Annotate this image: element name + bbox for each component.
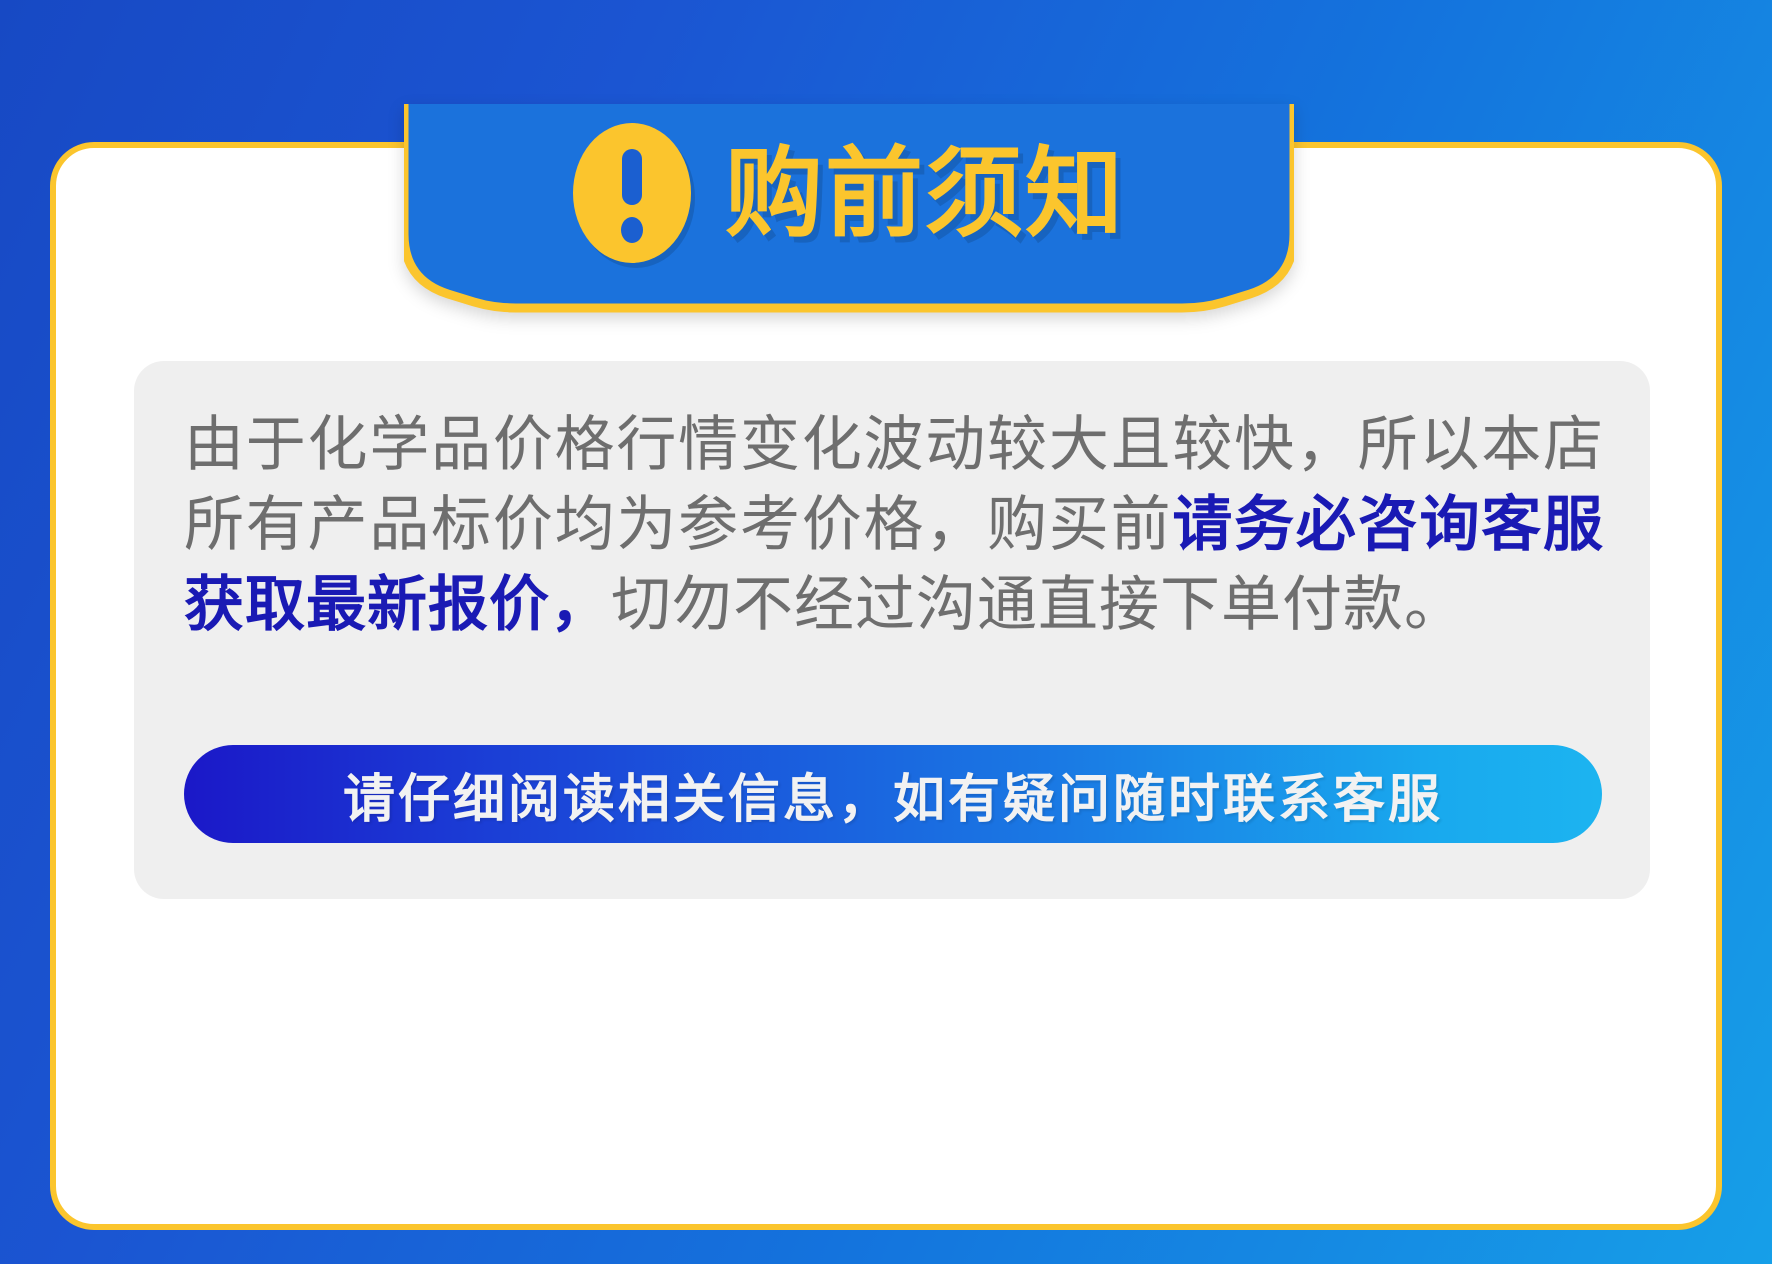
- banner-title: 购前须知: [725, 144, 1125, 242]
- paragraph-segment-3: 切勿不经过沟通直接下单付款。: [611, 571, 1465, 638]
- title-banner: 购前须知: [404, 104, 1294, 316]
- contact-support-button[interactable]: 请仔细阅读相关信息，如有疑问随时联系客服: [184, 745, 1602, 843]
- notice-panel: 由于化学品价格行情变化波动较大且较快，所以本店所有产品标价均为参考价格，购买前请…: [134, 361, 1650, 899]
- exclamation-icon: [573, 123, 691, 263]
- notice-paragraph: 由于化学品价格行情变化波动较大且较快，所以本店所有产品标价均为参考价格，购买前请…: [184, 405, 1604, 645]
- contact-support-label: 请仔细阅读相关信息，如有疑问随时联系客服: [343, 757, 1443, 832]
